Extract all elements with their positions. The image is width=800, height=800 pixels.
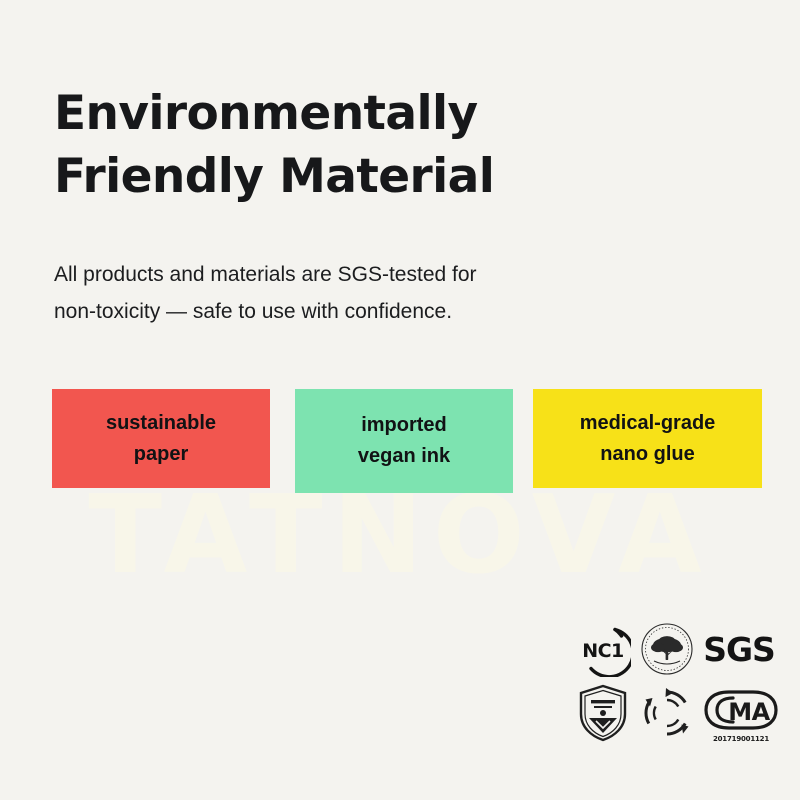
svg-text:MA: MA — [728, 698, 770, 726]
material-tag-line-1: medical-grade — [580, 408, 716, 439]
material-tag-line-1: imported — [361, 410, 447, 441]
recycling-arrows-icon — [639, 684, 695, 742]
material-tag-line-2: nano glue — [600, 439, 694, 470]
certification-badge-row-bottom: MA 201719001121 — [575, 682, 775, 744]
page-title-line-1: Environmentally — [54, 83, 744, 146]
sgs-logo-icon: SGS — [703, 623, 775, 675]
page-subtitle-line-2: non-toxicity — safe to use with confiden… — [54, 294, 694, 331]
certification-badge-group: NC1 — [575, 620, 775, 748]
cma-certification-number: 201719001121 — [703, 736, 779, 743]
page-subtitle-line-1: All products and materials are SGS-teste… — [54, 257, 694, 294]
environmentally-friendly-material-infographic: TATNOVA Environmentally Friendly Materia… — [0, 0, 800, 800]
nc1-certification-icon: NC1 — [575, 621, 631, 677]
svg-text:NC1: NC1 — [582, 640, 624, 662]
material-tag-line-2: vegan ink — [358, 441, 450, 472]
brand-watermark: TATNOVA — [0, 482, 800, 590]
sgs-logo-label: SGS — [703, 633, 775, 666]
page-subtitle: All products and materials are SGS-teste… — [54, 257, 694, 331]
cma-certification-icon: MA 201719001121 — [703, 683, 779, 743]
material-tag-sustainable-paper: sustainable paper — [52, 389, 270, 488]
shield-certification-icon — [575, 683, 631, 743]
material-tag-line-2: paper — [134, 439, 188, 470]
material-tag-imported-vegan-ink: imported vegan ink — [295, 389, 513, 493]
page-title-line-2: Friendly Material — [54, 146, 744, 209]
material-tag-medical-grade-nano-glue: medical-grade nano glue — [533, 389, 762, 488]
forest-tree-seal-icon — [639, 621, 695, 677]
certification-badge-row-top: NC1 — [575, 620, 775, 678]
material-tag-row: sustainable paper imported vegan ink med… — [52, 389, 762, 495]
material-tag-line-1: sustainable — [106, 408, 216, 439]
page-title: Environmentally Friendly Material — [54, 83, 744, 208]
